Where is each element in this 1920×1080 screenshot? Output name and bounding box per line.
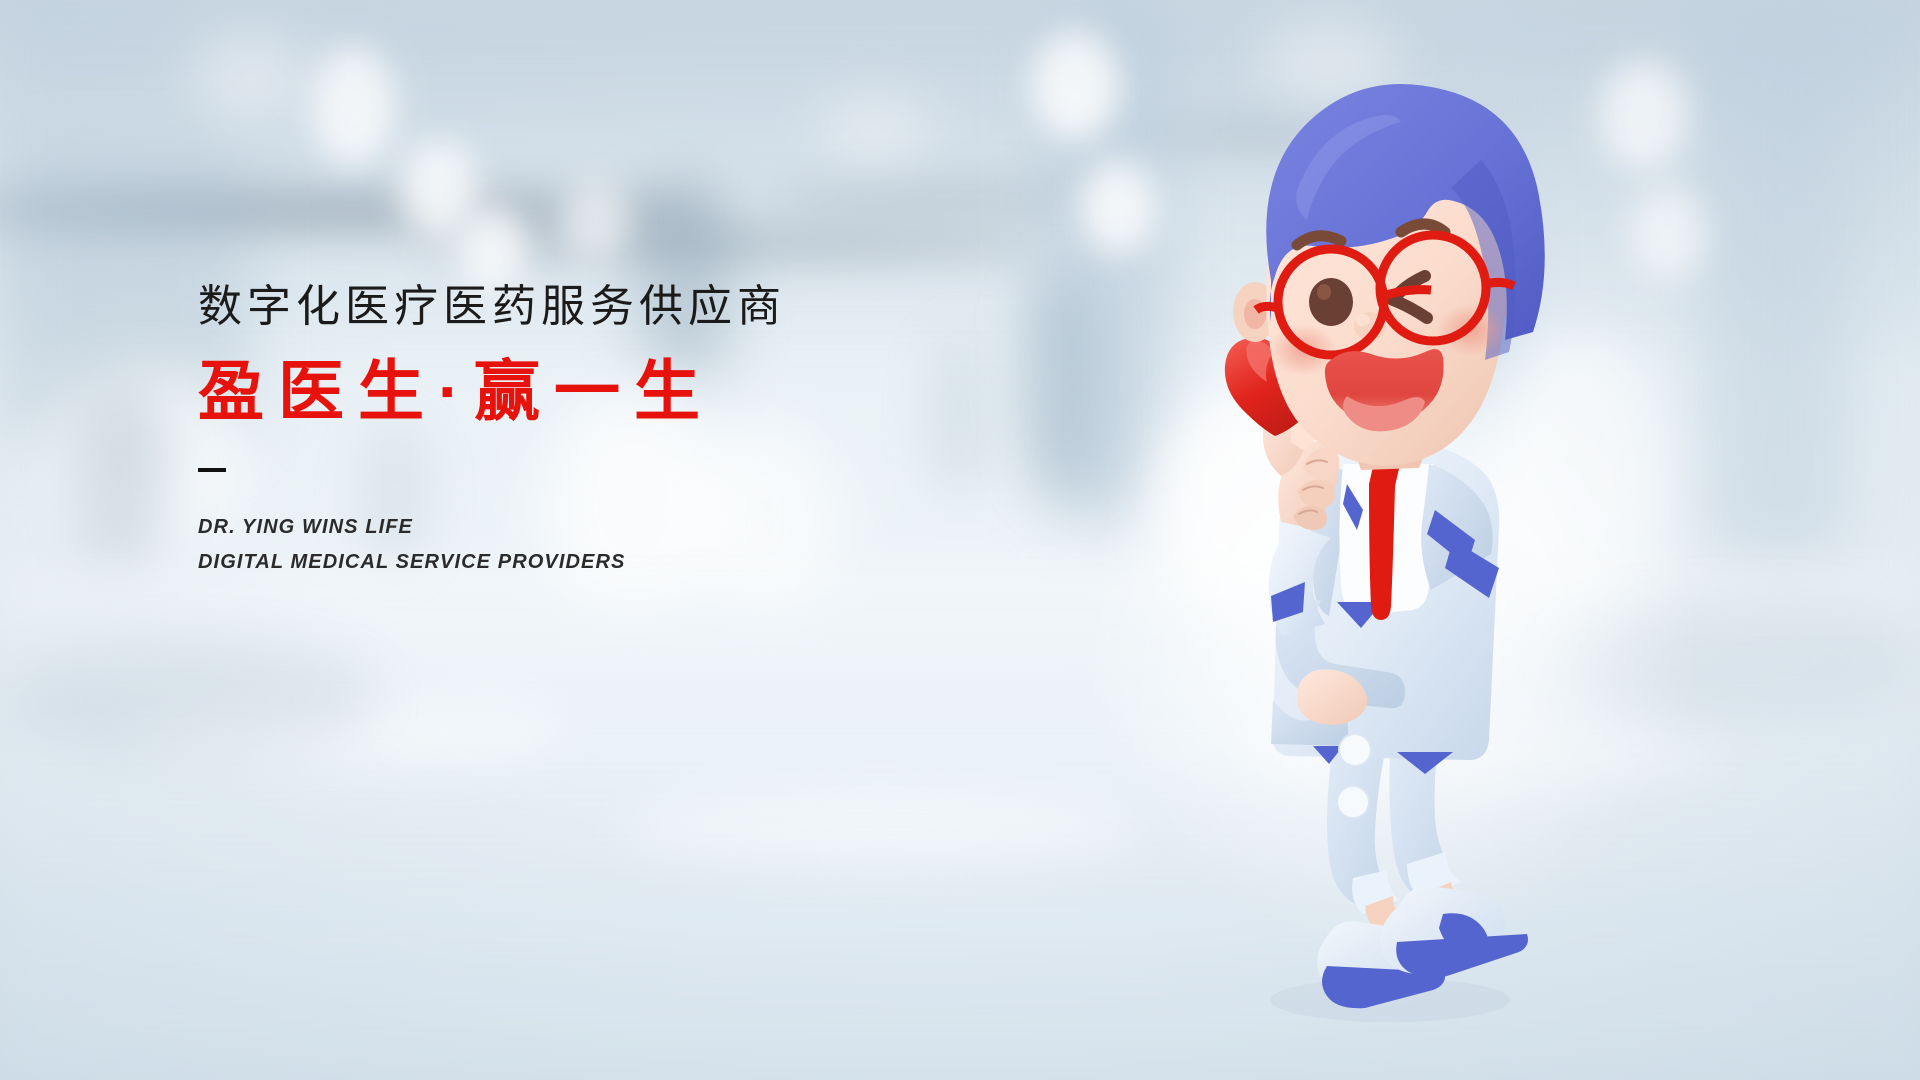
mascot-eye-open <box>1309 278 1353 326</box>
cartoon-doctor-mascot <box>1185 40 1605 1050</box>
subtitle-english: DR. YING WINS LIFE DIGITAL MEDICAL SERVI… <box>198 510 958 580</box>
hero-banner: 数字化医疗医药服务供应商 盈医生·赢一生 DR. YING WINS LIFE … <box>0 0 1920 1080</box>
glasses-temple-right <box>1486 282 1514 286</box>
subtitle-line-1: DR. YING WINS LIFE <box>198 510 958 545</box>
hero-copy: 数字化医疗医药服务供应商 盈医生·赢一生 DR. YING WINS LIFE … <box>198 283 958 580</box>
divider-rule <box>198 468 226 472</box>
mascot-shoe-front <box>1380 886 1528 978</box>
headline-chinese: 数字化医疗医药服务供应商 <box>198 283 958 331</box>
tagline-chinese: 盈医生·赢一生 <box>198 355 958 428</box>
glasses-temple-left <box>1256 306 1278 310</box>
mascot-coat-button-top <box>1339 734 1371 766</box>
mascot-coat-button-bottom <box>1337 786 1369 818</box>
subtitle-line-2: DIGITAL MEDICAL SERVICE PROVIDERS <box>198 545 958 580</box>
